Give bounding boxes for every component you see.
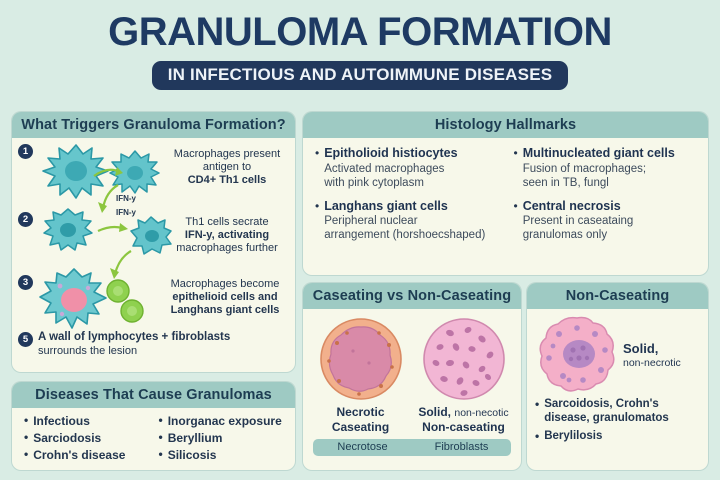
caption-right-line-2: Non-caseating <box>412 420 515 435</box>
caseating-heading: Caseating vs Non-Caseating <box>303 283 521 309</box>
bullet-icon: • <box>159 413 163 429</box>
diseases-column-left: •Infectious •Sarciodosis •Crohn's diseas… <box>24 413 153 464</box>
noncaseating-cell-label-bold: Solid, <box>623 341 681 357</box>
noncaseating-body: Solid, non-necrotic • Sarcoidosis, Crohn… <box>527 309 708 454</box>
bullet-icon: • <box>315 199 319 243</box>
noncaseating-granuloma-icon <box>535 314 619 396</box>
step-2-line-1: Th1 cells secrate <box>162 216 292 229</box>
list-item: •Crohn's disease <box>24 447 153 464</box>
macrophage-cell-icon-2 <box>40 206 96 252</box>
hallmark-desc-line: seen in TB, fungl <box>523 176 675 190</box>
list-item: • Berylilosis <box>535 429 700 445</box>
hallmark-title: Epitholioid histiocytes <box>324 146 457 162</box>
solid-non-necrotic-granuloma-icon <box>420 315 508 403</box>
step-3-text: Macrophages become epithelioid cells and… <box>158 278 292 317</box>
caseating-legend-bar: Necrotose Fibroblasts <box>313 439 511 456</box>
step-5-badge: 5 <box>18 332 33 347</box>
step-1-badge: 1 <box>18 144 33 159</box>
caption-right-line-1-light: non-necotic <box>454 407 508 419</box>
step-3-line-1: Macrophages become <box>158 278 292 291</box>
list-item: • Epitholioid histiocytes Activated macr… <box>315 146 500 190</box>
triggers-body: 1 IFN-y Macrophages present antigen to C… <box>12 138 295 367</box>
hallmark-desc-line: Present in caseataing <box>523 214 634 228</box>
step-2-line-3: macrophages further <box>162 242 292 255</box>
histology-heading: Histology Hallmarks <box>303 112 708 138</box>
caption-left-line-1: Necrotic <box>309 405 412 420</box>
list-item: •Beryllium <box>159 430 288 447</box>
caseating-captions: Necrotic Caseating Solid, non-necotic No… <box>309 405 515 435</box>
disease-label: Inorganac exposure <box>168 413 282 430</box>
bullet-icon: • <box>24 413 28 429</box>
list-item: •Inorganac exposure <box>159 413 288 430</box>
step-3-line-2: epithelioid cells and <box>158 291 292 304</box>
noncaseating-cell-label-light: non-necrotic <box>623 357 681 370</box>
page-subtitle: IN INFECTIOUS AND AUTOIMMUNE DISEASES <box>152 61 569 90</box>
disease-label: Sarciodosis <box>33 430 101 447</box>
bullet-icon: • <box>535 429 539 445</box>
hallmark-desc-line: with pink cytoplasm <box>324 176 457 190</box>
caption-left: Necrotic Caseating <box>309 405 412 435</box>
step-5-badge-wrap: 5 <box>18 332 33 347</box>
step-1-line-1: Macrophages present <box>164 148 290 161</box>
noncaseating-cell-label: Solid, non-necrotic <box>623 341 681 369</box>
list-item: • Multinucleated giant cells Fusion of m… <box>514 146 699 190</box>
bullet-icon: • <box>24 430 28 446</box>
list-item: •Infectious <box>24 413 153 430</box>
caseating-card: Caseating vs Non-Caseating <box>303 283 521 470</box>
bullet-icon: • <box>159 430 163 446</box>
histology-body: • Epitholioid histiocytes Activated macr… <box>303 138 708 248</box>
cytokine-arrow-icon <box>92 164 126 184</box>
bullet-icon: • <box>24 447 28 463</box>
histology-column-left: • Epitholioid histiocytes Activated macr… <box>315 146 500 242</box>
infographic-page: GRANULOMA FORMATION IN INFECTIOUS AND AU… <box>0 0 720 480</box>
step-5-line-2: surrounds the lesion <box>38 345 288 358</box>
step-3-badge-wrap: 3 <box>18 275 33 290</box>
step-1-text: Macrophages present antigen to CD4+ Th1 … <box>164 148 290 187</box>
disease-label: Silicosis <box>168 447 217 464</box>
step-2-badge: 2 <box>18 212 33 227</box>
caseating-body: Necrotic Caseating Solid, non-necotic No… <box>303 309 521 461</box>
disease-label: Infectious <box>33 413 90 430</box>
diseases-heading: Diseases That Cause Granulomas <box>12 382 295 408</box>
bullet-icon: • <box>535 397 539 425</box>
page-title: GRANULOMA FORMATION <box>0 12 720 52</box>
right-arrow-icon <box>96 220 132 238</box>
epithelioid-cell-icon <box>38 266 110 332</box>
caption-right: Solid, non-necotic Non-caseating <box>412 405 515 435</box>
step-1-line-2: antigen to <box>164 161 290 174</box>
step-2-line-2: IFN-y, activating <box>162 229 292 242</box>
caption-right-line-1-bold: Solid, <box>418 405 451 419</box>
header: GRANULOMA FORMATION IN INFECTIOUS AND AU… <box>0 0 720 90</box>
triggers-heading: What Triggers Granuloma Formation? <box>12 112 295 138</box>
legend-necrotose: Necrotose <box>313 441 412 453</box>
disease-label: Crohn's disease <box>33 447 125 464</box>
step-1-badge-wrap: 1 <box>18 144 33 159</box>
list-item: •Sarciodosis <box>24 430 153 447</box>
histology-column-right: • Multinucleated giant cells Fusion of m… <box>514 146 699 242</box>
hallmark-desc-line: arrangement (horshoecshaped) <box>324 228 485 242</box>
noncaseating-item-line: Sarcoidosis, Crohn's <box>544 397 669 411</box>
noncaseating-heading: Non-Caseating <box>527 283 708 309</box>
noncaseating-card: Non-Caseating <box>527 283 708 470</box>
diseases-card: Diseases That Cause Granulomas •Infectio… <box>12 382 295 470</box>
noncaseating-item-line: disease, granulomatos <box>544 411 669 425</box>
list-item: • Central necrosis Present in caseataing… <box>514 199 699 243</box>
step-2-badge-wrap: 2 <box>18 212 33 227</box>
hallmark-title: Langhans giant cells <box>324 199 485 215</box>
disease-label: Beryllium <box>168 430 223 447</box>
bullet-icon: • <box>315 146 319 190</box>
hallmark-desc-line: Activated macrophages <box>324 162 457 176</box>
bullet-icon: • <box>514 146 518 190</box>
list-item: • Sarcoidosis, Crohn's disease, granulom… <box>535 397 700 425</box>
lymphocyte-icons <box>104 278 150 326</box>
list-item: •Silicosis <box>159 447 288 464</box>
histology-card: Histology Hallmarks • Epitholioid histio… <box>303 112 708 275</box>
diseases-body: •Infectious •Sarciodosis •Crohn's diseas… <box>12 408 295 468</box>
hallmark-desc-line: Fusion of macrophages; <box>523 162 675 176</box>
necrotic-caseating-granuloma-icon <box>317 315 405 403</box>
step-5-text: A wall of lymphocytes + fibroblasts surr… <box>38 331 288 358</box>
triggers-card: What Triggers Granuloma Formation? 1 IFN… <box>12 112 295 372</box>
legend-fibroblasts: Fibroblasts <box>412 441 511 453</box>
hallmark-desc-line: Peripheral nuclear <box>324 214 485 228</box>
hallmark-desc-line: granulomas only <box>523 228 634 242</box>
diseases-column-right: •Inorganac exposure •Beryllium •Silicosi… <box>159 413 288 464</box>
caption-left-line-2: Caseating <box>309 420 412 435</box>
step-3-badge: 3 <box>18 275 33 290</box>
bullet-icon: • <box>514 199 518 243</box>
arrow-to-epithelioid-icon <box>107 248 139 282</box>
hallmark-title: Multinucleated giant cells <box>523 146 675 162</box>
list-item: • Langhans giant cells Peripheral nuclea… <box>315 199 500 243</box>
step-5-line-1: A wall of lymphocytes + fibroblasts <box>38 331 288 345</box>
step-2-text: Th1 cells secrate IFN-y, activating macr… <box>162 216 292 255</box>
step-3-line-3: Langhans giant cells <box>158 304 292 317</box>
bullet-icon: • <box>159 447 163 463</box>
noncaseating-item-line: Berylilosis <box>544 429 602 443</box>
step-1-line-3: CD4+ Th1 cells <box>164 174 290 187</box>
hallmark-title: Central necrosis <box>523 199 634 215</box>
